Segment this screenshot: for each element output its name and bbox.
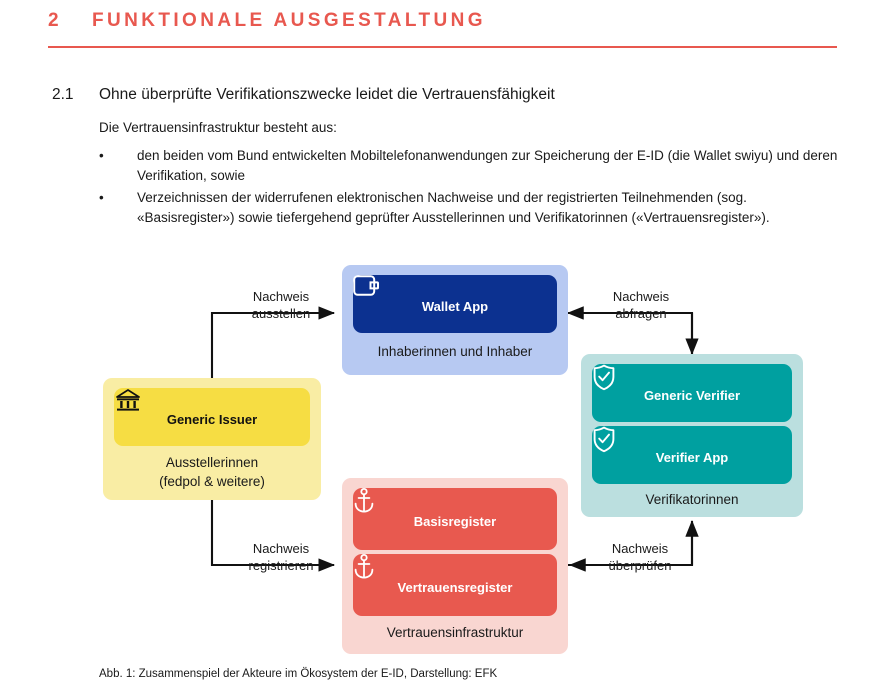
- group-issuer-label-line1: Ausstellerinnen: [103, 454, 321, 472]
- bullet-marker-icon: •: [99, 146, 104, 166]
- node-generic-verifier-label: Generic Verifier: [644, 388, 740, 403]
- node-vertrauensregister[interactable]: Vertrauensregister: [353, 554, 557, 616]
- edge-label-request-line1: Nachweis: [586, 288, 696, 305]
- edge-label-issue: Nachweis ausstellen: [226, 288, 336, 322]
- group-holder-label: Inhaberinnen und Inhaber: [342, 343, 568, 361]
- node-wallet-app-label: Wallet App: [422, 299, 488, 314]
- group-verifier-label: Verifikatorinnen: [581, 491, 803, 509]
- list-item: • den beiden vom Bund entwickelten Mobil…: [99, 146, 839, 186]
- ecosystem-diagram: Wallet App Inhaberinnen und Inhaber Gene…: [0, 258, 884, 668]
- intro-paragraph: Die Vertrauensinfrastruktur besteht aus:: [99, 120, 337, 135]
- chapter-number: 2: [48, 10, 59, 32]
- edge-label-request: Nachweis abfragen: [586, 288, 696, 322]
- figure-caption: Abb. 1: Zusammenspiel der Akteure im Öko…: [99, 668, 497, 680]
- edge-label-issue-line2: ausstellen: [226, 305, 336, 322]
- edge-label-verify: Nachweis überprüfen: [584, 540, 696, 574]
- node-basisregister[interactable]: Basisregister: [353, 488, 557, 550]
- node-verifier-app[interactable]: Verifier App: [592, 426, 792, 484]
- node-generic-issuer-label: Generic Issuer: [167, 412, 257, 427]
- edge-label-register: Nachweis registrieren: [222, 540, 340, 574]
- edge-label-register-line1: Nachweis: [222, 540, 340, 557]
- group-registry[interactable]: Basisregister Vertrauensregister Vertrau…: [342, 478, 568, 654]
- bullet-marker-icon: •: [99, 188, 104, 208]
- chapter-title: FUNKTIONALE AUSGESTALTUNG: [92, 10, 486, 32]
- edge-issue: [212, 313, 334, 380]
- section-number: 2.1: [52, 86, 74, 104]
- list-item: • Verzeichnissen der widerrufenen elektr…: [99, 188, 839, 228]
- node-basisregister-label: Basisregister: [414, 514, 496, 529]
- node-verifier-app-label: Verifier App: [656, 450, 728, 465]
- list-item-text: Verzeichnissen der widerrufenen elektron…: [137, 188, 839, 228]
- edge-label-issue-line1: Nachweis: [226, 288, 336, 305]
- group-holder[interactable]: Wallet App Inhaberinnen und Inhaber: [342, 265, 568, 375]
- group-verifier[interactable]: Generic Verifier Verifier App Verifikato…: [581, 354, 803, 517]
- node-wallet-app[interactable]: Wallet App: [353, 275, 557, 333]
- bullet-list: • den beiden vom Bund entwickelten Mobil…: [99, 146, 839, 230]
- edge-label-request-line2: abfragen: [586, 305, 696, 322]
- edge-label-register-line2: registrieren: [222, 557, 340, 574]
- list-item-text: den beiden vom Bund entwickelten Mobilte…: [137, 146, 839, 186]
- edge-label-verify-line1: Nachweis: [584, 540, 696, 557]
- node-vertrauensregister-label: Vertrauensregister: [398, 580, 513, 595]
- node-generic-issuer[interactable]: Generic Issuer: [114, 388, 310, 446]
- group-issuer[interactable]: Generic Issuer Ausstellerinnen (fedpol &…: [103, 378, 321, 500]
- group-registry-label: Vertrauensinfrastruktur: [342, 624, 568, 642]
- section-title: Ohne überprüfte Verifikationszwecke leid…: [99, 86, 555, 104]
- chapter-divider: [48, 46, 837, 48]
- node-generic-verifier[interactable]: Generic Verifier: [592, 364, 792, 422]
- group-issuer-label-line2: (fedpol & weitere): [103, 473, 321, 491]
- edge-label-verify-line2: überprüfen: [584, 557, 696, 574]
